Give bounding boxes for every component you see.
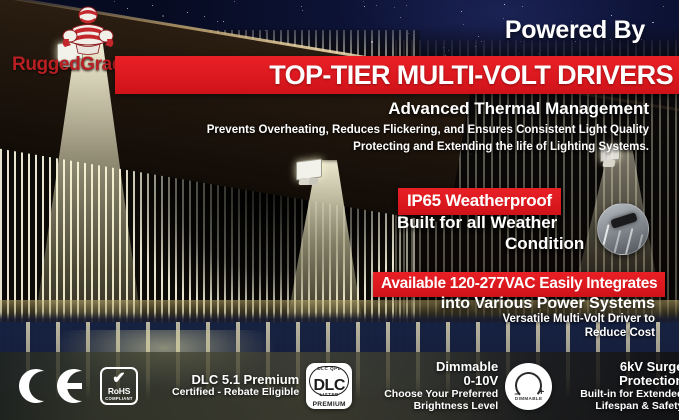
multivolt-line-3: Reduce Cost [585, 327, 655, 339]
mascot-strongman-icon [60, 6, 116, 58]
rohs-check-icon: ✔ [112, 371, 125, 387]
multivolt-line-2: Versatile Multi-Volt Driver to [502, 313, 655, 325]
rain-fixture-photo-icon [597, 203, 649, 255]
multivolt-line-1: into Various Power Systems [441, 295, 655, 313]
dlc-subtitle: Certified - Rebate Eligible [172, 387, 299, 399]
dimmable-subtitle-2: Brightness Level [384, 401, 498, 413]
ce-mark-icon [14, 365, 84, 407]
dimmable-dial-icon: − + DIMMABLE [505, 363, 552, 410]
cert-ce [0, 352, 84, 420]
eyebrow-text: Powered By [505, 16, 645, 45]
dlc-badge-bottom: PREMIUM [308, 401, 350, 408]
dimmable-title-2: 0-10V [384, 374, 498, 389]
multivolt-badge: Available 120-277VAC Easily Integrates [373, 272, 665, 297]
ip65-line-2: Condition [505, 234, 584, 254]
dlc-premium-icon: DLC QPL DLC LISTED PREMIUM [306, 363, 352, 409]
thermal-title: Advanced Thermal Management [388, 99, 649, 119]
surge-subtitle-1: Built-in for Extended [580, 389, 679, 401]
flood-light-fixture-center [296, 160, 322, 179]
ip65-line-1: Built for all Weather [397, 213, 557, 233]
cert-rohs: ✔ RoHS COMPLIANT [100, 352, 138, 420]
surge-title-2: Protection [580, 374, 679, 389]
cert-dimmable: Dimmable 0-10V Choose Your Preferred Bri… [384, 352, 552, 420]
dlc-badge-top: DLC QPL [306, 366, 352, 371]
dlc-badge-mid: LISTED [306, 392, 352, 397]
dial-label: DIMMABLE [505, 396, 552, 401]
rohs-label: RoHS [108, 387, 130, 396]
rohs-compliant-icon: ✔ RoHS COMPLIANT [100, 367, 138, 405]
cert-dlc: DLC 5.1 Premium Certified - Rebate Eligi… [172, 352, 352, 420]
certification-bar: ✔ RoHS COMPLIANT DLC 5.1 Premium Certifi… [0, 352, 679, 420]
cert-surge: 6kV Surge Protection Built-in for Extend… [580, 352, 679, 420]
ip65-badge: IP65 Weatherproof [398, 188, 561, 215]
headline-banner: TOP-TIER MULTI-VOLT DRIVERS [115, 56, 679, 94]
dimmable-subtitle-1: Choose Your Preferred [384, 389, 498, 401]
thermal-line-1: Prevents Overheating, Reduces Flickering… [207, 124, 649, 136]
surge-subtitle-2: Lifespan & Safety [580, 401, 679, 413]
rohs-sublabel: COMPLIANT [105, 396, 133, 401]
headline-text: TOP-TIER MULTI-VOLT DRIVERS [269, 60, 673, 91]
thermal-line-2: Protecting and Extending the life of Lig… [353, 141, 649, 153]
product-feature-banner: RuggedGrade Powered By TOP-TIER MULTI-VO… [0, 0, 679, 420]
